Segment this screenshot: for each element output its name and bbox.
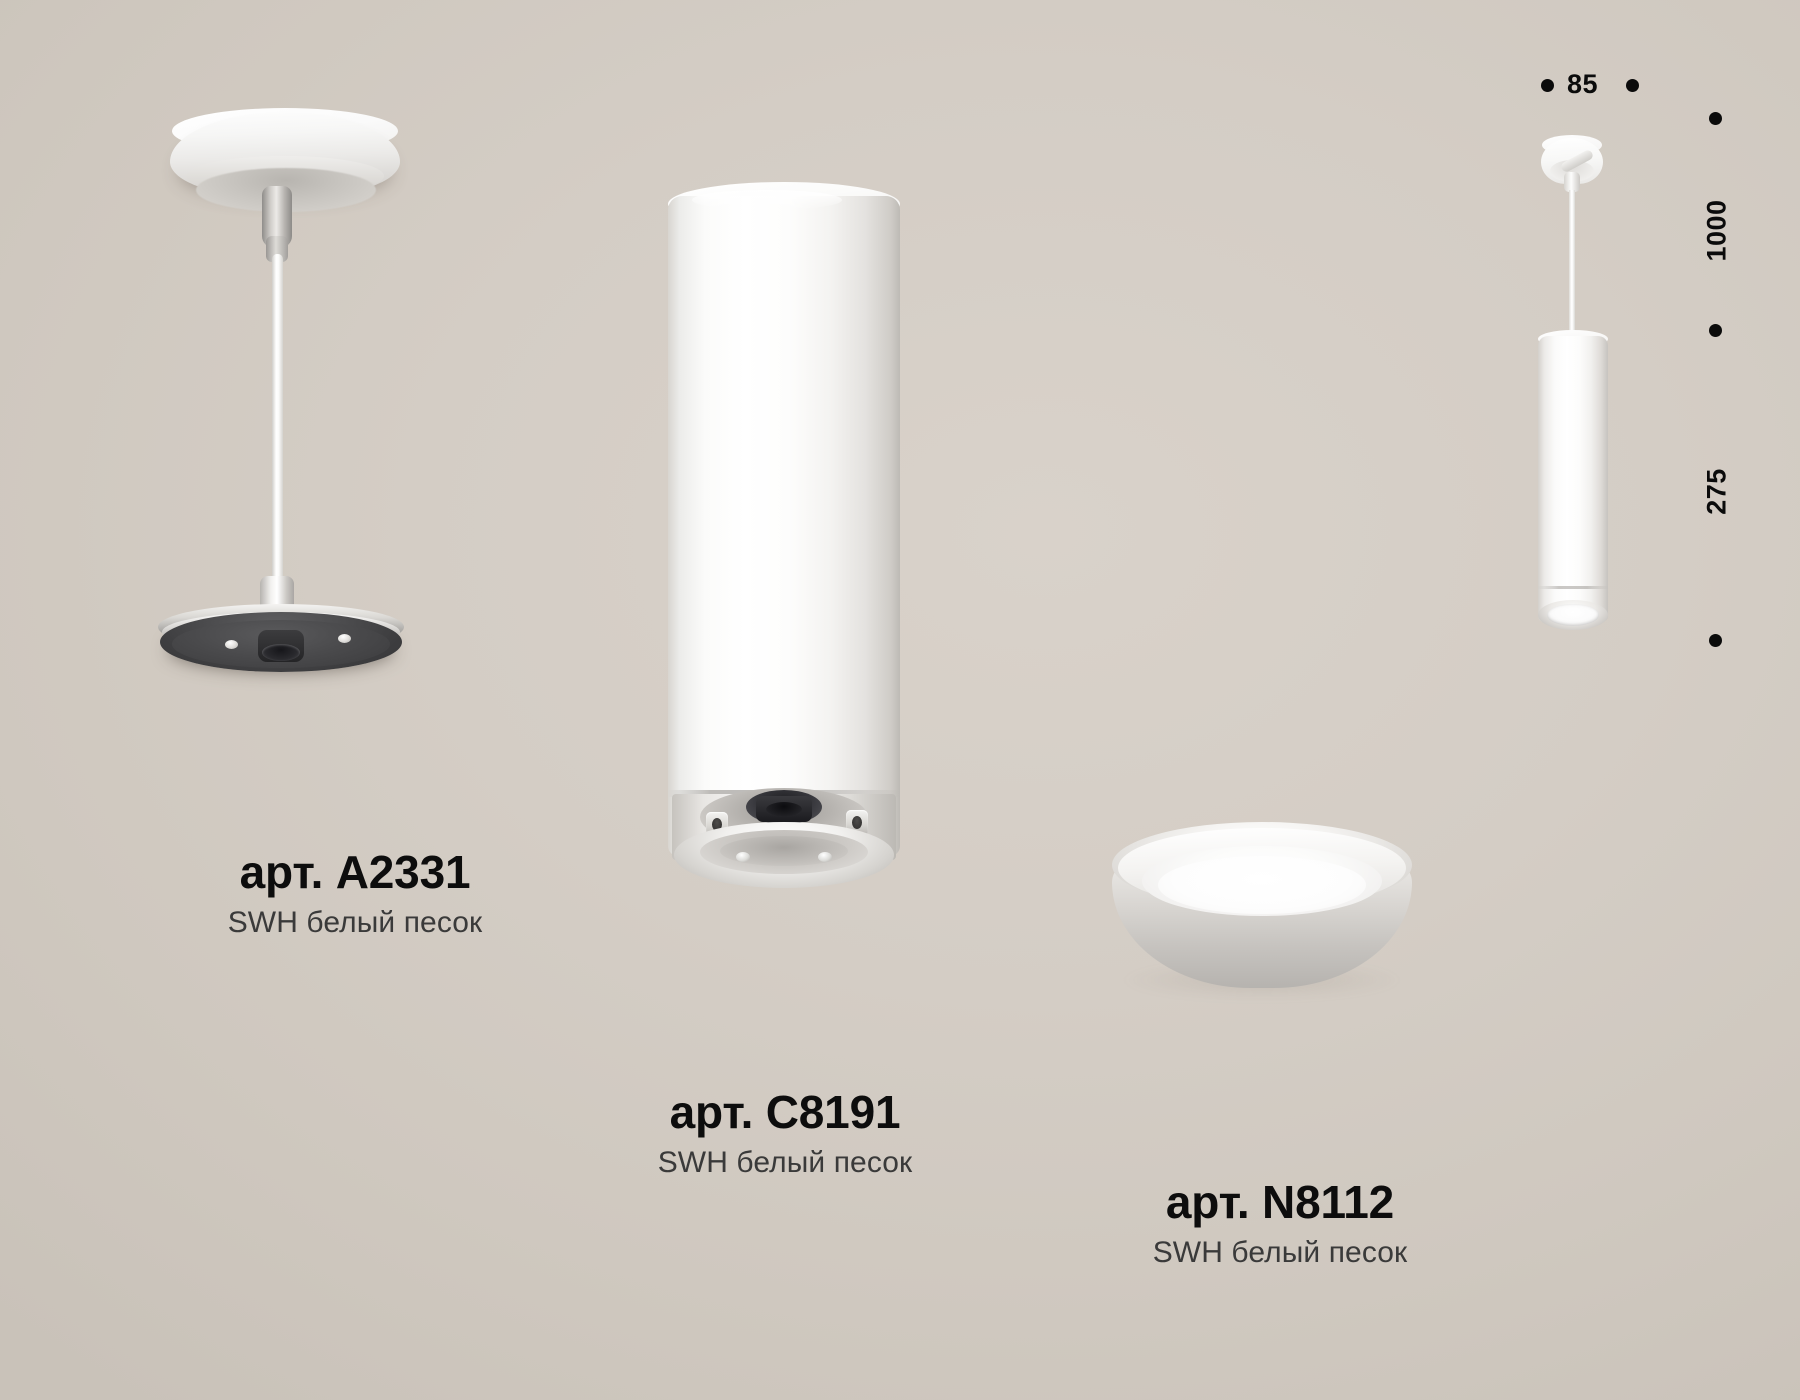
label-n8112: арт. N8112 SWH белый песок <box>1020 1178 1540 1271</box>
dimension-value-body-height: 275 <box>1702 458 1733 526</box>
finish-name-c8191: SWH белый песок <box>525 1144 1045 1182</box>
article-code-a2331: арт. A2331 <box>95 848 615 897</box>
article-code-c8191: арт. C8191 <box>525 1088 1045 1137</box>
article-code-n8112: арт. N8112 <box>1020 1178 1540 1227</box>
pendant-cylinder-body <box>1538 336 1608 622</box>
dimension-dot-middle <box>1709 324 1722 337</box>
ring-diffuser-center <box>1158 856 1366 914</box>
suspension-cable <box>272 254 283 599</box>
product-spec-canvas: арт. A2331 SWH белый песок арт. C8191 SW… <box>0 0 1800 1400</box>
dimension-value-suspension: 1000 <box>1702 193 1733 269</box>
dimension-dot-bottom <box>1709 634 1722 647</box>
pendant-suspension-rod <box>1569 190 1575 338</box>
label-a2331: арт. A2331 SWH белый песок <box>95 848 615 941</box>
base-plate-connector-ring <box>262 644 300 661</box>
cylinder-top-highlight <box>692 190 842 210</box>
finish-name-a2331: SWH белый песок <box>95 904 615 942</box>
pendant-seam-line <box>1538 586 1608 589</box>
flange-screw <box>818 852 832 862</box>
pendant-grommet <box>1564 172 1580 192</box>
label-c8191: арт. C8191 SWH белый песок <box>525 1088 1045 1181</box>
dimension-dot-width-right <box>1626 79 1639 92</box>
finish-name-n8112: SWH белый песок <box>1020 1234 1540 1272</box>
cylinder-body <box>668 196 900 856</box>
dimension-value-width: 85 <box>1567 69 1598 100</box>
dimension-dot-width-left <box>1541 79 1554 92</box>
pendant-light-aperture <box>1547 604 1599 626</box>
base-plate-screw <box>225 640 238 649</box>
dimension-dot-top <box>1709 112 1722 125</box>
mounting-tab-hole <box>852 816 862 829</box>
base-plate-screw <box>338 634 351 643</box>
flange-screw <box>736 852 750 862</box>
connector-aperture <box>766 802 802 817</box>
